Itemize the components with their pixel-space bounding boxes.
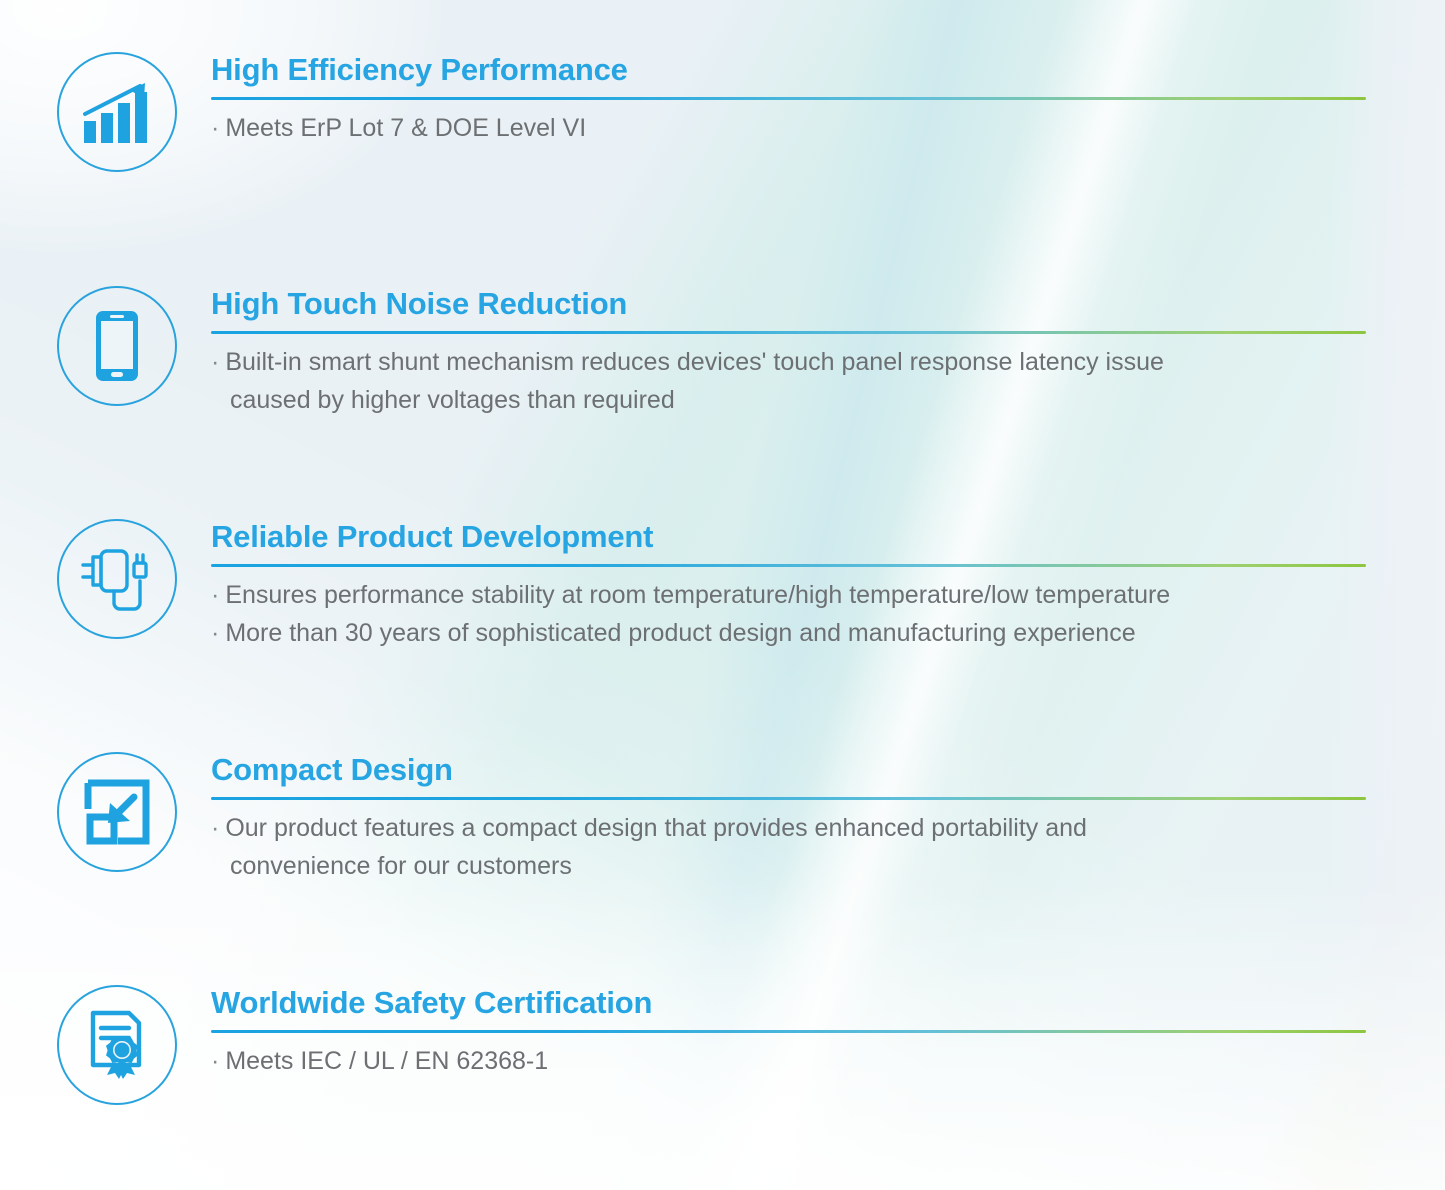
certificate-seal-icon xyxy=(85,1009,149,1081)
bullet-text: caused by higher voltages than required xyxy=(230,386,675,414)
feature-title: High Efficiency Performance xyxy=(211,52,1371,88)
feature-title: Worldwide Safety Certification xyxy=(211,985,1371,1021)
smartphone-icon xyxy=(94,309,140,383)
feature-title: Reliable Product Development xyxy=(211,519,1371,555)
bullet-marker: · xyxy=(211,114,219,142)
bullet-item: ·Our product features a compact design t… xyxy=(211,809,1371,847)
feature-bullets: ·Meets IEC / UL / EN 62368-1 xyxy=(211,1042,1371,1080)
bullet-item: ·Ensures performance stability at room t… xyxy=(211,576,1371,614)
feature-body: Compact Design ·Our product features a c… xyxy=(211,752,1371,885)
bullet-item: convenience for our customers xyxy=(211,847,1371,885)
feature-icon-circle xyxy=(57,752,177,872)
bullet-marker: · xyxy=(211,581,219,609)
bullet-item: ·Meets IEC / UL / EN 62368-1 xyxy=(211,1042,1371,1080)
bullet-text: convenience for our customers xyxy=(230,852,572,880)
feature-icon-circle xyxy=(57,286,177,406)
bullet-marker: · xyxy=(211,348,219,376)
feature-bullets: ·Our product features a compact design t… xyxy=(211,809,1371,885)
bullet-item: ·More than 30 years of sophisticated pro… xyxy=(211,614,1371,652)
feature-bullets: ·Ensures performance stability at room t… xyxy=(211,576,1371,652)
bar-chart-growth-icon xyxy=(82,79,152,145)
feature-bullets: ·Meets ErP Lot 7 & DOE Level VI xyxy=(211,109,1371,147)
feature-icon-circle xyxy=(57,985,177,1105)
bullet-item: ·Built-in smart shunt mechanism reduces … xyxy=(211,343,1371,381)
feature-body: High Efficiency Performance ·Meets ErP L… xyxy=(211,52,1371,147)
feature-body: Reliable Product Development ·Ensures pe… xyxy=(211,519,1371,652)
feature-divider xyxy=(211,564,1366,567)
feature-highlights-page: High Efficiency Performance ·Meets ErP L… xyxy=(0,0,1445,1190)
bullet-item: caused by higher voltages than required xyxy=(211,381,1371,419)
feature-body: Worldwide Safety Certification ·Meets IE… xyxy=(211,985,1371,1080)
feature-title: High Touch Noise Reduction xyxy=(211,286,1371,322)
feature-list: High Efficiency Performance ·Meets ErP L… xyxy=(0,0,1445,1190)
feature-body: High Touch Noise Reduction ·Built-in sma… xyxy=(211,286,1371,419)
feature-divider xyxy=(211,97,1366,100)
feature-icon-circle xyxy=(57,519,177,639)
bullet-item: ·Meets ErP Lot 7 & DOE Level VI xyxy=(211,109,1371,147)
bullet-text: Meets ErP Lot 7 & DOE Level VI xyxy=(225,114,586,142)
feature-divider xyxy=(211,1030,1366,1033)
feature-icon-circle xyxy=(57,52,177,172)
bullet-text: Our product features a compact design th… xyxy=(225,814,1087,842)
feature-title: Compact Design xyxy=(211,752,1371,788)
bullet-text: Ensures performance stability at room te… xyxy=(225,581,1170,609)
bullet-marker: · xyxy=(211,814,219,842)
feature-bullets: ·Built-in smart shunt mechanism reduces … xyxy=(211,343,1371,419)
feature-divider xyxy=(211,331,1366,334)
power-adapter-icon xyxy=(79,543,155,615)
compact-resize-icon xyxy=(84,779,150,845)
bullet-marker: · xyxy=(211,619,219,647)
bullet-text: Meets IEC / UL / EN 62368-1 xyxy=(225,1047,548,1075)
feature-divider xyxy=(211,797,1366,800)
bullet-text: More than 30 years of sophisticated prod… xyxy=(225,619,1135,647)
bullet-marker: · xyxy=(211,1047,219,1075)
bullet-text: Built-in smart shunt mechanism reduces d… xyxy=(225,348,1164,376)
